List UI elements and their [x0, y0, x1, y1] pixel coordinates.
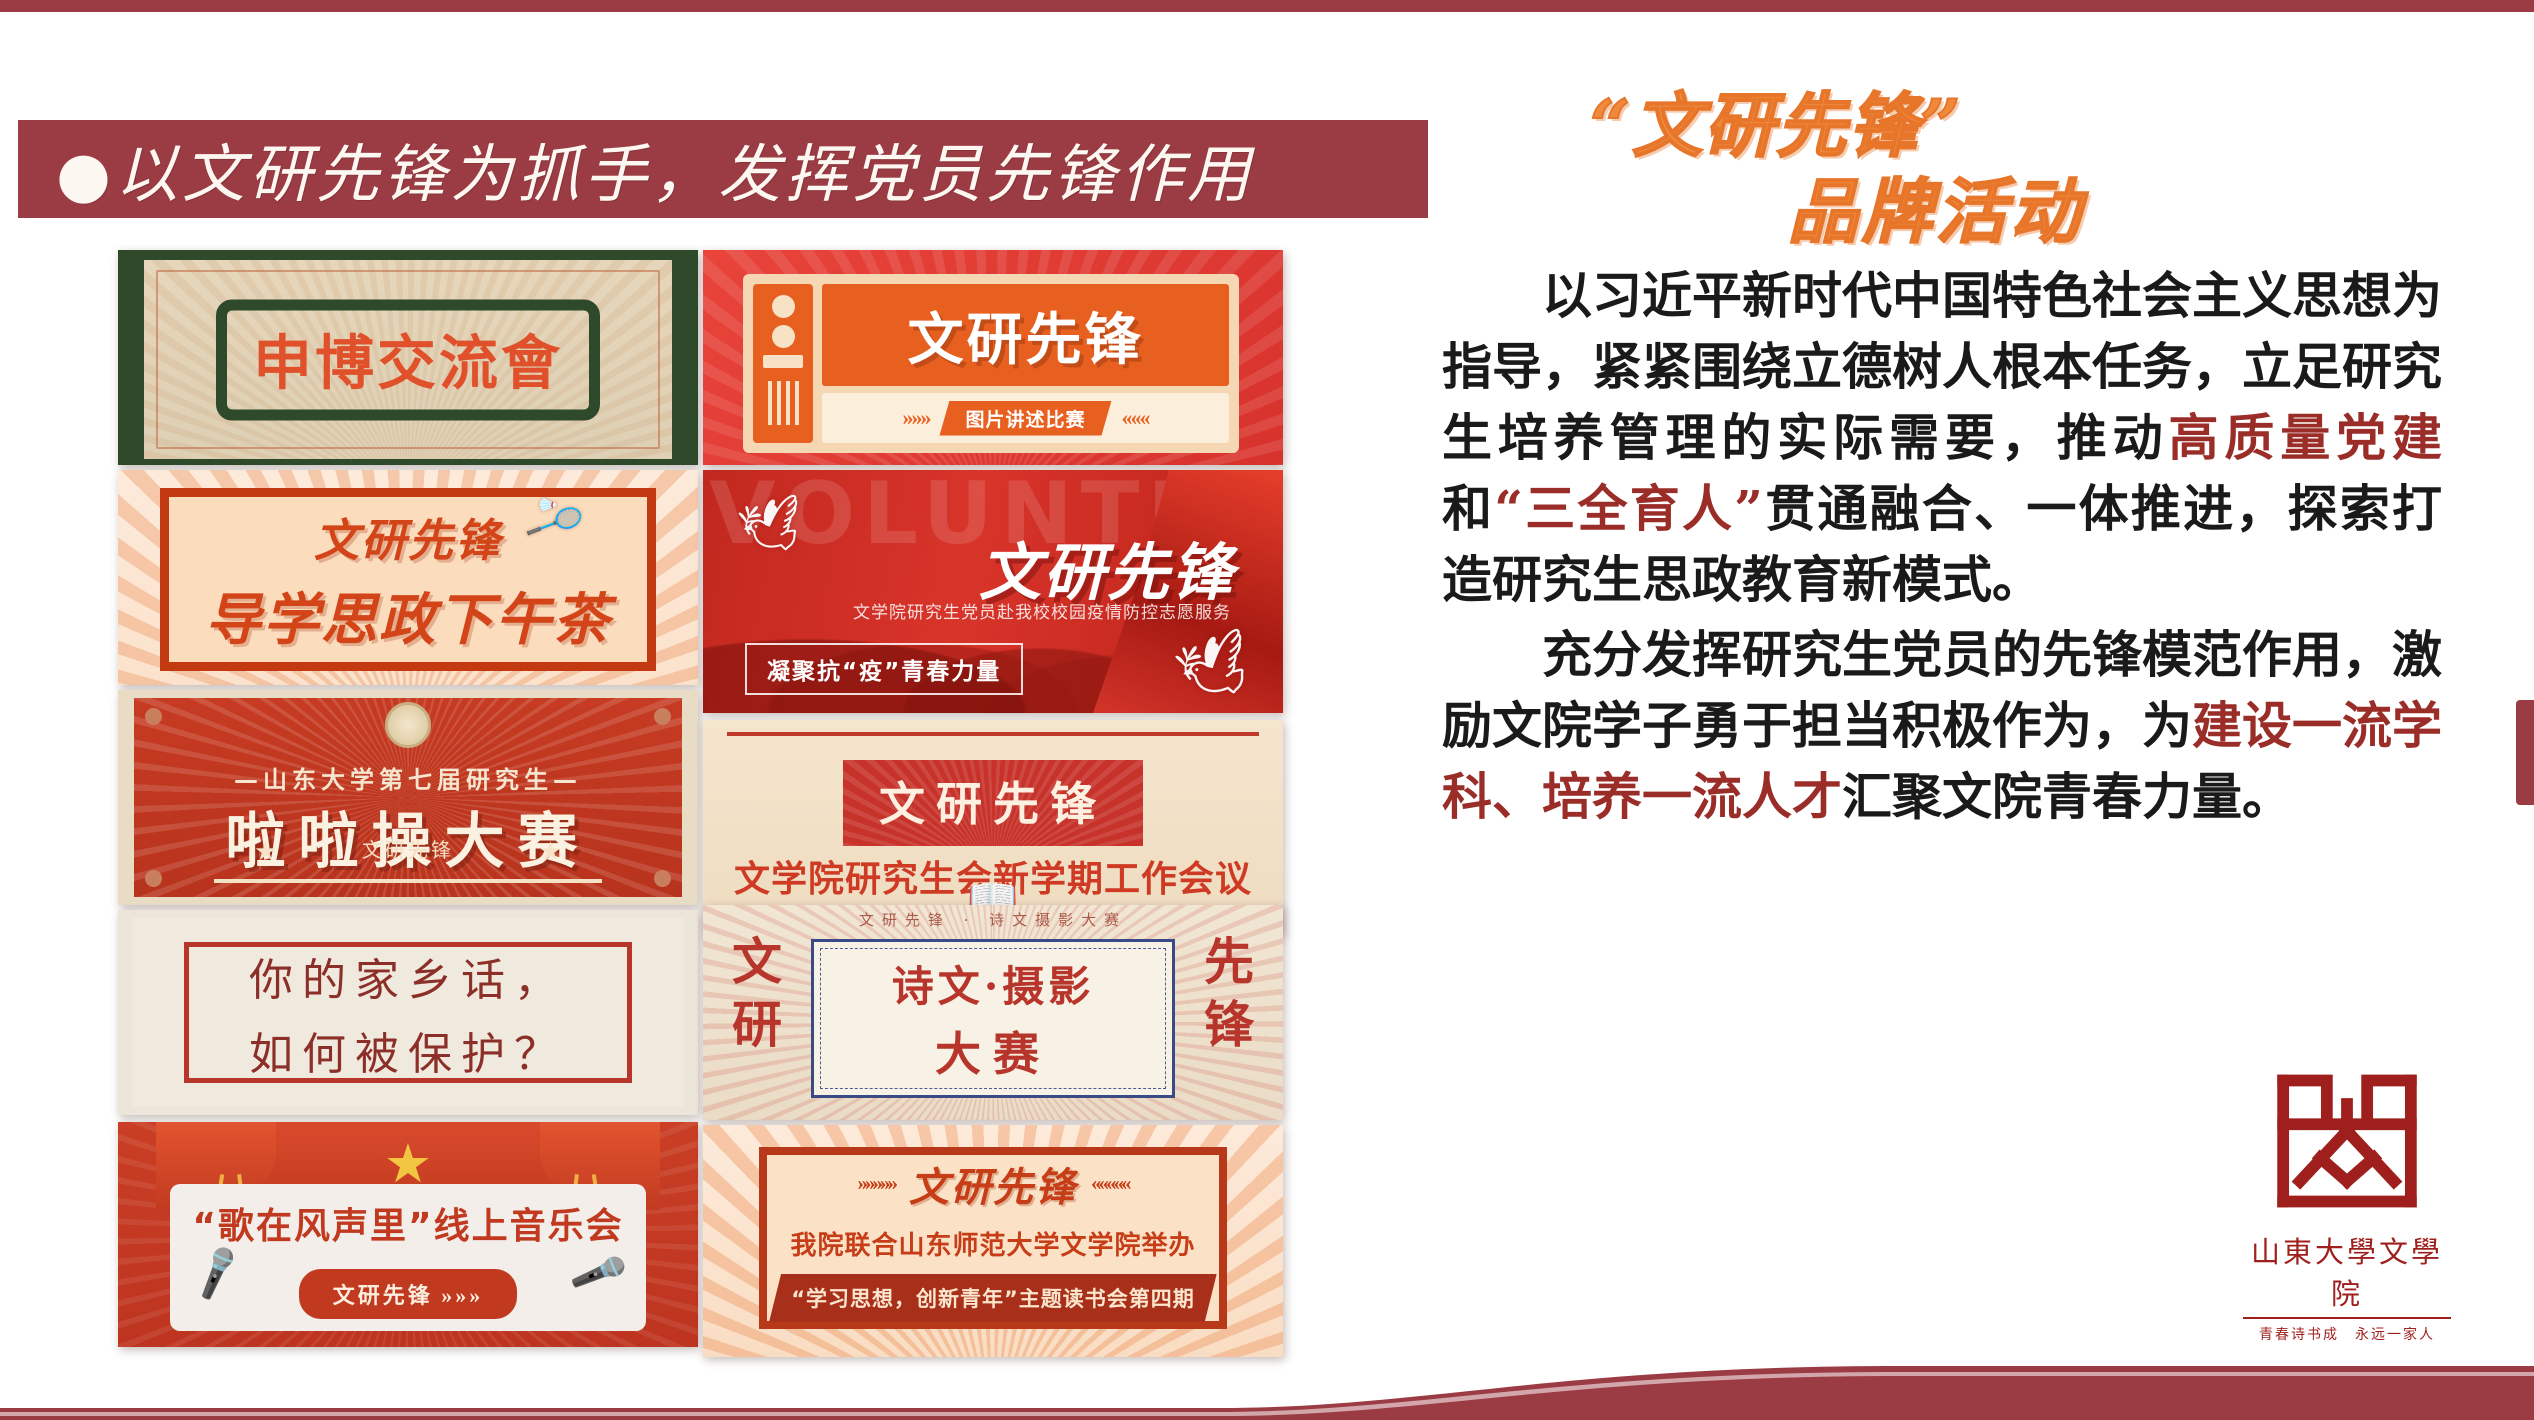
poster-subtitle: 我院联合山东师范大学文学院举办	[790, 1225, 1195, 1262]
institution-logo: 山東大學文學院 青春诗书成 永远一家人	[2237, 1057, 2457, 1344]
poster-frame: 你的家乡话， 如何被保护？	[184, 942, 632, 1083]
section-title-banner: ●以文研先锋为抓手，发挥党员先锋作用	[18, 120, 1428, 218]
body-copy: 以习近平新时代中国特色社会主义思想为指导，紧紧围绕立德树人根本任务，立足研究生培…	[1442, 260, 2442, 832]
radio-knob-icon	[772, 325, 795, 348]
top-accent-bar-gap	[0, 12, 2534, 17]
logo-divider	[2243, 1317, 2451, 1319]
corner-dot-decoration	[145, 708, 162, 725]
chevron-left-icon: «««	[1122, 405, 1149, 431]
poster-title: 文研先锋	[843, 760, 1143, 846]
para1-text-b: 和	[1442, 479, 1494, 538]
poster-anti-epidemic-volunteer[interactable]: VOLUNTEER 🕊 🕊 文研先锋 文学院研究生党员赴我校校园疫情防控志愿服务…	[703, 470, 1283, 713]
chevron-right-icon: »»»	[902, 405, 929, 431]
paragraph-2: 充分发挥研究生党员的先锋模范作用，激励文院学子勇于担当积极作为，为建设一流学科、…	[1442, 619, 2442, 832]
poster-subtitle: 文学院研究生党员赴我校校园疫情防控志愿服务	[853, 598, 1231, 623]
emblem-icon	[385, 702, 431, 748]
poster-cheerleading-contest[interactable]: —山东大学第七届研究生— 啦啦操大赛 ★ ★ 文研先锋	[118, 690, 698, 905]
poster-side-left: 文研	[711, 931, 803, 1056]
section-title-label: 以文研先锋为抓手，发挥党员先锋作用	[115, 138, 1254, 211]
poster-title: 申博交流會	[253, 315, 563, 400]
poster-new-term-work-meeting[interactable]: 文研先锋 文学院研究生会新学期工作会议 📖	[703, 720, 1283, 935]
top-accent-bar	[0, 0, 2534, 12]
poster-line-1: 你的家乡话，	[249, 944, 567, 1008]
poster-pill-label: 文研先锋 »»»	[299, 1269, 518, 1319]
poster-online-concert[interactable]: ★ “歌在风声里”线上音乐会 文研先锋 »»» 🎤 🎤	[118, 1122, 698, 1347]
poster-title: “歌在风声里”线上音乐会	[192, 1197, 623, 1249]
radio-speaker-icon	[768, 381, 799, 425]
poster-side-right: 先锋	[1183, 931, 1275, 1056]
poster-eyebrow: —山东大学第七届研究生—	[134, 760, 682, 795]
top-rule-decoration	[727, 732, 1259, 736]
para1-highlight-1: 高质量党建	[2168, 408, 2442, 467]
right-content-column: “文研先锋” 品牌活动 以习近平新时代中国特色社会主义思想为指导，紧紧围绕立德树…	[1420, 60, 2515, 1380]
poster-title: 文研先锋	[909, 1155, 1077, 1213]
brand-heading: “文研先锋” 品牌活动	[1420, 60, 2515, 250]
radio-knob-icon	[772, 295, 795, 318]
baseline-decoration	[214, 879, 602, 883]
poster-badge: 凝聚抗“疫”青春力量	[745, 643, 1023, 695]
poster-subtitle: 导学思政下午茶	[205, 575, 611, 656]
poster-card: “歌在风声里”线上音乐会 文研先锋 »»»	[170, 1184, 646, 1331]
corner-dot-decoration	[654, 708, 671, 725]
poster-frame: »»»»» 文研先锋 ««««« 我院联合山东师范大学文学院举办 “学习思想，创…	[759, 1147, 1227, 1329]
poster-badge: “学习思想，创新青年”主题读书会第四期	[769, 1274, 1217, 1322]
poster-hometown-dialect[interactable]: 你的家乡话， 如何被保护？	[118, 910, 698, 1115]
poster-collage: 申博交流會 文研先锋 »»» 图片讲述比赛	[118, 250, 1283, 1420]
poster-title-box: 申博交流會	[216, 299, 600, 420]
paragraph-1: 以习近平新时代中国特色社会主义思想为指导，紧紧围绕立德树人根本任务，立足研究生培…	[1442, 260, 2442, 615]
poster-title: 诗文·摄影	[892, 953, 1095, 1014]
poster-background: —山东大学第七届研究生— 啦啦操大赛 ★ ★ 文研先锋	[134, 698, 682, 897]
poster-mentor-politics-tea[interactable]: 文研先锋 导学思政下午茶 🏸	[118, 470, 698, 685]
poster-background: 申博交流會	[144, 260, 672, 459]
right-edge-tab	[2516, 700, 2534, 805]
title-bullet: ●	[56, 138, 115, 211]
para1-highlight-2: “三全育人”	[1494, 479, 1763, 538]
poster-background: 你的家乡话， 如何被保护？	[132, 918, 684, 1107]
poster-title-row: »»»»» 文研先锋 «««««	[858, 1155, 1129, 1213]
poster-title-box: 文研先锋	[822, 284, 1229, 386]
poster-photo-storytelling-contest[interactable]: 文研先锋 »»» 图片讲述比赛 «««	[703, 250, 1283, 465]
poster-shenbo-exchange[interactable]: 申博交流會	[118, 250, 698, 465]
star-icon: ★	[384, 1132, 432, 1195]
poster-reading-club-s4[interactable]: »»»»» 文研先锋 ««««« 我院联合山东师范大学文学院举办 “学习思想，创…	[703, 1125, 1283, 1357]
brand-heading-line-2: 品牌活动	[1788, 156, 2084, 257]
poster-main: 文研先锋 »»» 图片讲述比赛 «««	[822, 284, 1229, 443]
poster-subtitle: 大赛	[935, 1018, 1051, 1084]
page-title: ●以文研先锋为抓手，发挥党员先锋作用	[18, 124, 1254, 215]
poster-center-box: 诗文·摄影 大赛	[811, 939, 1175, 1098]
chevron-left-icon: «««««	[1091, 1171, 1129, 1196]
poster-line-2: 如何被保护？	[249, 1018, 567, 1082]
poster-tag: 图片讲述比赛	[939, 401, 1111, 436]
radio-slot-icon	[763, 355, 803, 368]
logo-institution-name: 山東大學文學院	[2237, 1229, 2457, 1313]
left-content-column: ●以文研先锋为抓手，发挥党员先锋作用 申博交流會	[0, 120, 1470, 1360]
poster-top-glyph: 文研先锋 · 诗文摄影大赛	[703, 909, 1283, 930]
poster-title: 文研先锋	[314, 504, 502, 569]
poster-title: 文研先锋	[908, 295, 1144, 376]
poster-frame: 文研先锋 »»» 图片讲述比赛 «««	[743, 274, 1239, 453]
poster-subtitle-bar: »»» 图片讲述比赛 «««	[822, 393, 1229, 443]
radio-panel-decoration	[753, 284, 813, 443]
poster-subtitle: 文研先锋	[134, 834, 682, 863]
chevron-right-icon: »»»»»	[858, 1171, 896, 1196]
poster-poetry-photography-contest[interactable]: 文研先锋 · 诗文摄影大赛 文研 先锋 诗文·摄影 大赛	[703, 905, 1283, 1120]
para2-text-b: 汇聚文院青春力量。	[1842, 767, 2292, 826]
seal-icon	[2263, 1057, 2431, 1225]
logo-tagline: 青春诗书成 永远一家人	[2237, 1324, 2457, 1344]
